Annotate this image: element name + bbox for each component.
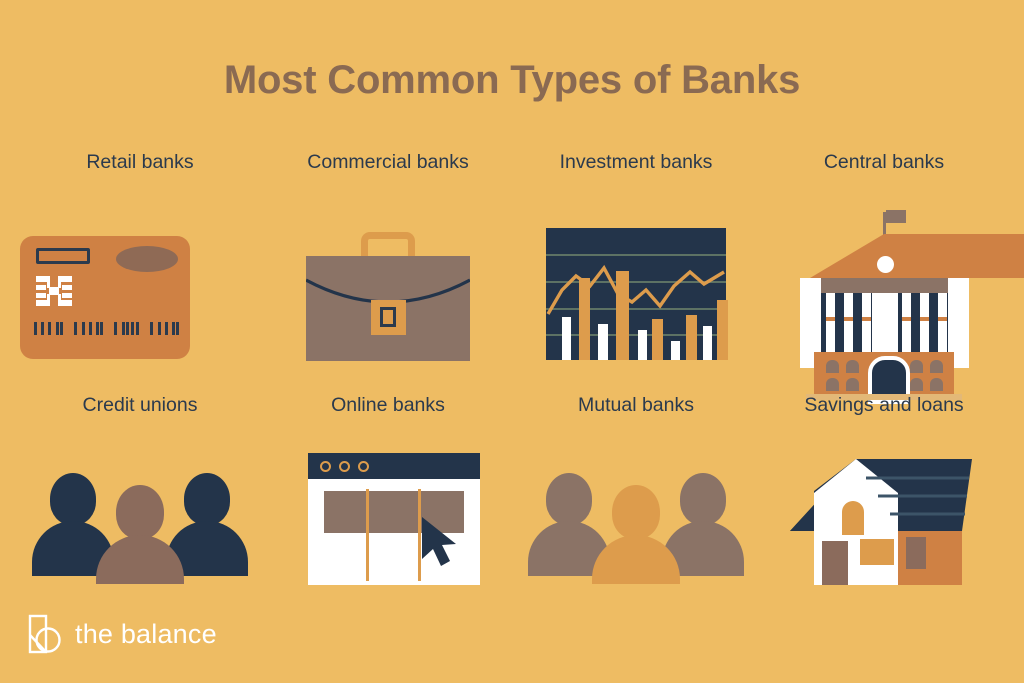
people-group-icon [12,431,268,601]
credit-card-number [34,322,180,335]
house-roof [784,453,984,593]
credit-card-strip [36,248,90,264]
browser-title-bar [308,453,480,479]
stock-chart-plot-area [546,228,726,360]
bank-type-label: Retail banks [12,151,268,174]
page-title: Most Common Types of Banks [0,58,1024,103]
bank-center-panel [872,293,898,352]
bank-type-card-investment-banks: Investment banks [508,151,764,358]
browser-dot-1 [320,461,331,472]
bank-type-card-credit-unions: Credit unions [12,394,268,601]
briefcase-clasp-keyhole [380,307,396,327]
bank-type-card-commercial-banks: Commercial banks [260,151,516,358]
bank-pediment-clock [877,256,894,273]
browser-dot-3 [358,461,369,472]
bank-type-label: Credit unions [12,394,268,417]
bank-type-label: Commercial banks [260,151,516,174]
brand-logo-text: the balance [75,619,217,650]
bank-type-label: Online banks [260,394,516,417]
bank-building-icon [756,188,1012,358]
bank-flag-icon [886,210,906,223]
bank-type-card-mutual-banks: Mutual banks [508,394,764,601]
briefcase-icon [260,188,516,358]
bank-architrave [810,278,958,293]
bank-type-card-central-banks: Central banks [756,151,1012,358]
stock-chart-icon [508,188,764,358]
people-group-icon [508,431,764,601]
house-icon [756,431,1012,601]
house-wing-window [906,537,926,569]
mouse-cursor-icon [418,515,464,571]
bank-pediment [810,234,1024,278]
bank-type-label: Mutual banks [508,394,764,417]
bank-type-card-savings-and-loans: Savings and loans [756,394,1012,601]
credit-card-icon [12,188,268,358]
briefcase-handle [361,232,415,258]
bank-type-card-retail-banks: Retail banks [12,151,268,358]
bank-type-label: Central banks [756,151,1012,174]
briefcase-clasp [371,300,406,335]
balance-b-logo-icon [28,613,62,655]
credit-card-hologram [116,246,178,272]
bank-type-label: Savings and loans [756,394,1012,417]
bank-type-card-online-banks: Online banks [260,394,516,601]
house-attic-window [842,501,864,535]
stock-chart-trend-line [546,228,726,360]
bank-type-label: Investment banks [508,151,764,174]
brand-logo[interactable]: the balance [28,613,217,655]
house-window [860,539,894,565]
house-door [822,541,848,585]
browser-divider-1 [366,489,369,581]
browser-dot-2 [339,461,350,472]
credit-card-body [20,236,190,359]
browser-window-icon [260,431,516,601]
credit-card-chip-icon [36,276,72,306]
infographic-page: Most Common Types of Banks Retail banks [0,0,1024,683]
